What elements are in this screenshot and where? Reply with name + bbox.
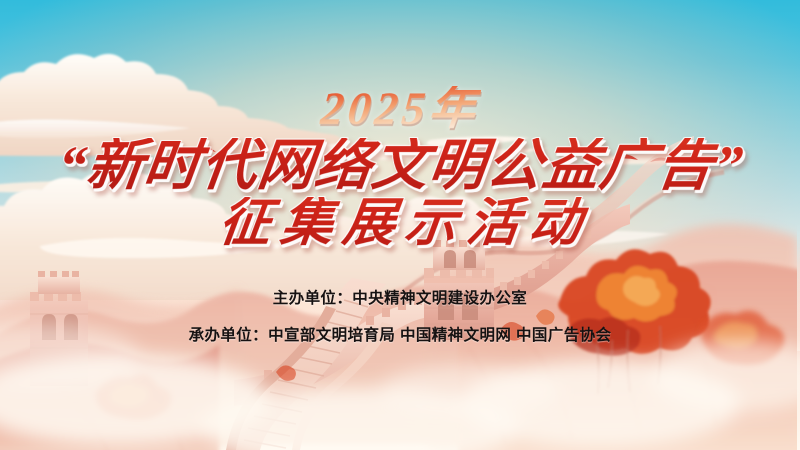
organizer-line: 主办单位：中央精神文明建设办公室: [273, 286, 527, 308]
poster-canvas: 2025年 “新时代网络文明公益广告” 征集展示活动 主办单位：中央精神文明建设…: [0, 0, 800, 450]
year-heading: 2025年: [319, 86, 482, 132]
main-title: “新时代网络文明公益广告”: [54, 138, 746, 195]
poster-text-content: 2025年 “新时代网络文明公益广告” 征集展示活动 主办单位：中央精神文明建设…: [0, 0, 800, 450]
sub-title: 征集展示活动: [206, 197, 595, 252]
co-organizer-line: 承办单位：中宣部文明培育局 中国精神文明网 中国广告协会: [189, 323, 612, 345]
